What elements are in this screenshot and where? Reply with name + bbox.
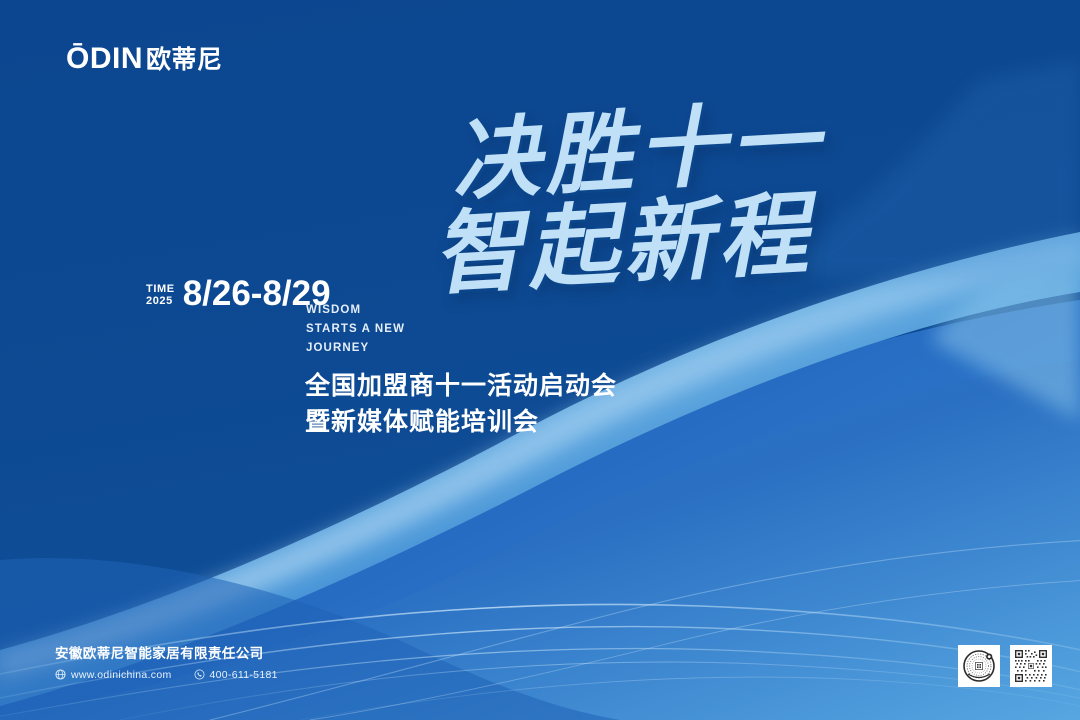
- website-text: www.odinichina.com: [71, 669, 172, 681]
- time-label-year: 2025: [146, 295, 175, 307]
- company-name: 安徽欧蒂尼智能家居有限责任公司: [55, 646, 278, 664]
- event-date-block: TIME 2025 8/26-8/29: [146, 276, 331, 311]
- tagline-line-1: WISDOM: [306, 301, 405, 320]
- wechat-official-account-qr[interactable]: [958, 645, 1000, 687]
- subtitle-line-1: 全国加盟商十一活动启动会: [305, 368, 617, 404]
- contact-row: www.odinichina.com 400-611-5181: [55, 669, 278, 681]
- english-tagline: WISDOM STARTS A NEW JOURNEY: [306, 301, 405, 358]
- brand-logo-latin: ŌDIN: [66, 44, 143, 74]
- time-label: TIME 2025: [146, 280, 175, 308]
- mini-program-qr[interactable]: [1010, 645, 1052, 687]
- circular-qr-icon: [961, 648, 997, 684]
- brand-logo[interactable]: ŌDIN 欧蒂尼: [66, 44, 223, 74]
- square-qr-icon: [1013, 648, 1049, 684]
- brand-logo-cjk: 欧蒂尼: [146, 47, 223, 72]
- headline-calligraphy: 决胜十一 智起新程: [425, 90, 934, 300]
- phone-text: 400-611-5181: [210, 669, 278, 681]
- chinese-subtitle: 全国加盟商十一活动启动会 暨新媒体赋能培训会: [305, 368, 617, 441]
- time-label-top: TIME: [146, 283, 175, 295]
- event-poster: ŌDIN 欧蒂尼 决胜十一 智起新程 TIME 2025 8/26-8/29 W…: [0, 0, 1080, 720]
- qr-code-group: [958, 645, 1052, 687]
- website-item[interactable]: www.odinichina.com: [55, 669, 172, 681]
- phone-icon: [194, 669, 205, 680]
- subtitle-line-2: 暨新媒体赋能培训会: [305, 404, 617, 440]
- tagline-line-2: STARTS A NEW: [306, 320, 405, 339]
- globe-icon: [55, 669, 66, 680]
- footer-contact-block: 安徽欧蒂尼智能家居有限责任公司 www.odinichina.com 400-6…: [55, 646, 278, 681]
- tagline-line-3: JOURNEY: [306, 339, 405, 358]
- phone-item[interactable]: 400-611-5181: [194, 669, 278, 681]
